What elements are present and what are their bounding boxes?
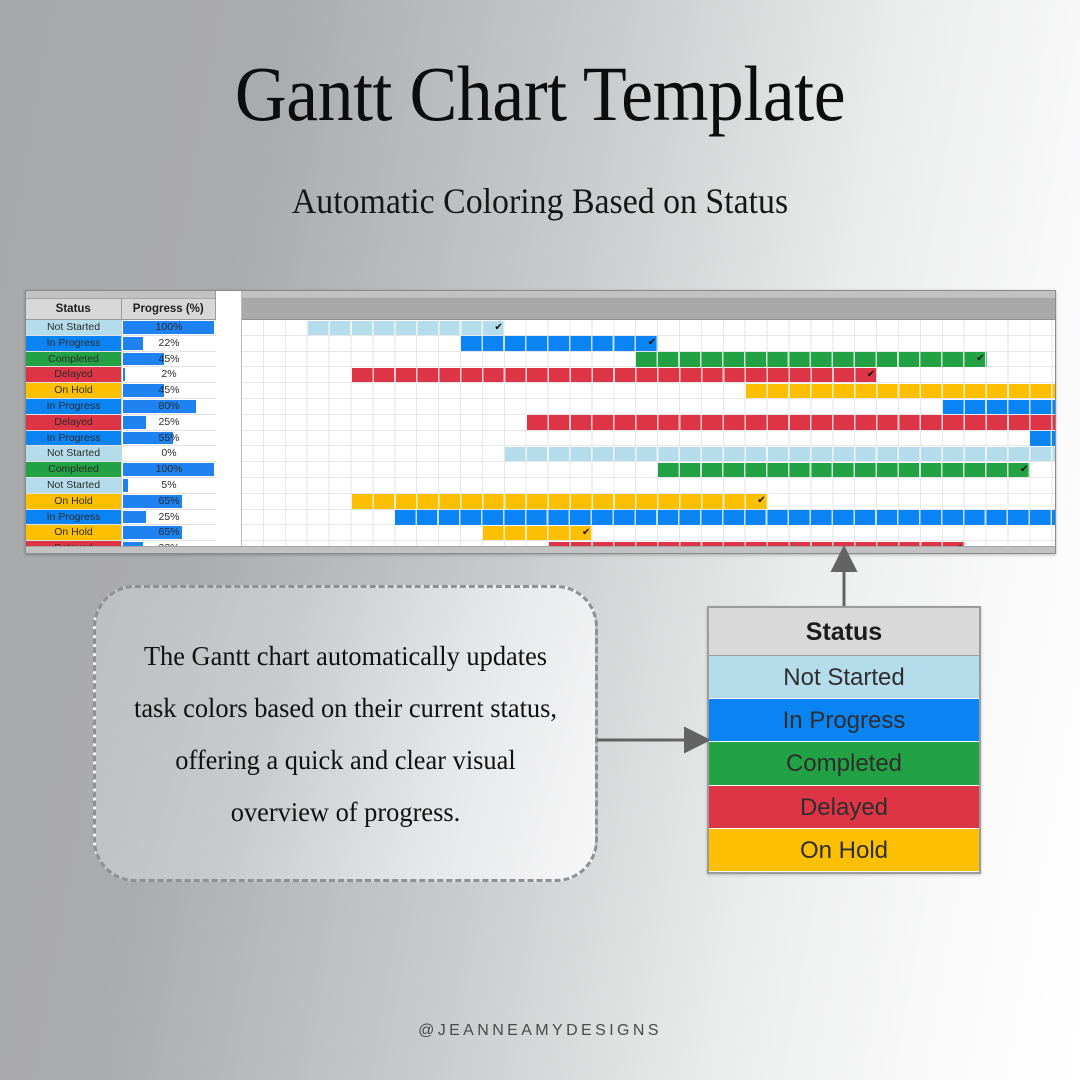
gantt-bar-not-started[interactable]: ✔ [308, 321, 505, 335]
progress-cell[interactable]: 80% [122, 399, 216, 415]
column-header-progress[interactable]: Progress (%) [122, 299, 216, 319]
table-rows-container: Not Started100%In Progress22%Completed45… [26, 320, 215, 554]
gantt-row[interactable]: ✔ [242, 320, 1055, 336]
gantt-bar-on-hold[interactable]: ✔ [483, 526, 593, 540]
legend-item-not-started[interactable]: Not Started [709, 656, 979, 699]
table-row[interactable]: In Progress22% [26, 336, 215, 352]
status-cell[interactable]: Not Started [26, 320, 122, 336]
checkmark-icon: ✔ [582, 526, 590, 540]
table-row[interactable]: Not Started5% [26, 478, 215, 494]
task-table[interactable]: Status Progress (%) Not Started100%In Pr… [26, 291, 216, 553]
gantt-bar-delayed[interactable] [527, 415, 1055, 429]
gantt-bar-on-hold[interactable]: ✔ [352, 494, 768, 508]
gantt-row[interactable] [242, 478, 1055, 494]
checkmark-icon: ✔ [867, 368, 875, 382]
status-cell[interactable]: Not Started [26, 446, 122, 462]
progress-cell[interactable]: 0% [122, 446, 216, 462]
checkmark-icon: ✔ [648, 336, 656, 350]
progress-cell[interactable]: 25% [122, 510, 216, 526]
gantt-spreadsheet-panel[interactable]: Status Progress (%) Not Started100%In Pr… [25, 290, 1056, 554]
status-cell[interactable]: Delayed [26, 367, 122, 383]
page-header: Gantt Chart Template Automatic Coloring … [0, 46, 1080, 224]
gantt-row[interactable] [242, 431, 1055, 447]
table-row[interactable]: Not Started100% [26, 320, 215, 336]
status-cell[interactable]: Completed [26, 352, 122, 368]
progress-label: 25% [122, 415, 216, 431]
gantt-row[interactable]: ✔ [242, 352, 1055, 368]
gantt-bar-completed[interactable]: ✔ [636, 352, 986, 366]
gantt-bar-in-progress[interactable] [1030, 431, 1055, 445]
gantt-bar-in-progress[interactable]: ✔ [943, 400, 1055, 414]
progress-label: 2% [122, 367, 216, 383]
status-legend[interactable]: Status Not StartedIn ProgressCompletedDe… [707, 606, 981, 874]
gantt-row[interactable]: ✔ [242, 383, 1055, 399]
progress-cell[interactable]: 5% [122, 478, 216, 494]
status-cell[interactable]: In Progress [26, 431, 122, 447]
gantt-bar-not-started[interactable]: ✔ [505, 447, 1055, 461]
table-row[interactable]: In Progress55% [26, 431, 215, 447]
status-cell[interactable]: In Progress [26, 510, 122, 526]
progress-cell[interactable]: 25% [122, 415, 216, 431]
status-cell[interactable]: In Progress [26, 336, 122, 352]
progress-cell[interactable]: 55% [122, 431, 216, 447]
table-row[interactable]: Completed100% [26, 462, 215, 478]
gantt-bar-delayed[interactable]: ✔ [352, 368, 878, 382]
page-subtitle: Automatic Coloring Based on Status [32, 178, 1047, 224]
progress-label: 100% [122, 320, 216, 336]
progress-label: 65% [122, 494, 216, 510]
callout-text: The Gantt chart automatically updates ta… [106, 630, 585, 838]
gantt-top-strip [242, 291, 1055, 299]
legend-item-delayed[interactable]: Delayed [709, 786, 979, 829]
gantt-row[interactable]: ✔ [242, 399, 1055, 415]
gantt-timeline-header[interactable] [242, 291, 1055, 320]
progress-label: 45% [122, 352, 216, 368]
gantt-row[interactable]: ✔ [242, 494, 1055, 510]
spacer-column [216, 291, 242, 553]
gantt-row[interactable]: ✔ [242, 336, 1055, 352]
gantt-bar-on-hold[interactable]: ✔ [746, 384, 1055, 398]
gantt-bar-completed[interactable]: ✔ [658, 463, 1030, 477]
table-header-row: Status Progress (%) [26, 299, 215, 320]
legend-rows-container: Not StartedIn ProgressCompletedDelayedOn… [709, 656, 979, 872]
progress-cell[interactable]: 45% [122, 383, 216, 399]
status-cell[interactable]: On Hold [26, 525, 122, 541]
progress-label: 45% [122, 383, 216, 399]
gantt-row[interactable]: ✔ [242, 446, 1055, 462]
gantt-grid[interactable]: ✔✔✔✔✔✔✔✔✔✔✔✔ [242, 291, 1055, 553]
progress-label: 65% [122, 525, 216, 541]
table-row[interactable]: In Progress80% [26, 399, 215, 415]
progress-cell[interactable]: 2% [122, 367, 216, 383]
progress-cell[interactable]: 45% [122, 352, 216, 368]
gantt-row[interactable] [242, 415, 1055, 431]
table-row[interactable]: In Progress25% [26, 510, 215, 526]
gantt-row[interactable]: ✔ [242, 462, 1055, 478]
gantt-bar-in-progress[interactable]: ✔ [395, 510, 1055, 524]
status-cell[interactable]: In Progress [26, 399, 122, 415]
legend-title: Status [709, 608, 979, 656]
progress-cell[interactable]: 100% [122, 462, 216, 478]
table-row[interactable]: Completed45% [26, 352, 215, 368]
description-callout: The Gantt chart automatically updates ta… [93, 585, 598, 882]
status-cell[interactable]: Completed [26, 462, 122, 478]
gantt-row[interactable]: ✔ [242, 525, 1055, 541]
checkmark-icon: ✔ [1020, 463, 1028, 477]
sheet-bottom-scrollbar[interactable] [26, 546, 1055, 553]
gantt-rows-container: ✔✔✔✔✔✔✔✔✔✔✔✔ [242, 320, 1055, 553]
status-cell[interactable]: Not Started [26, 478, 122, 494]
checkmark-icon: ✔ [976, 352, 984, 366]
column-header-status[interactable]: Status [26, 299, 122, 319]
progress-label: 25% [122, 510, 216, 526]
status-cell[interactable]: On Hold [26, 494, 122, 510]
progress-label: 22% [122, 336, 216, 352]
status-cell[interactable]: Delayed [26, 415, 122, 431]
table-row[interactable]: Delayed2% [26, 367, 215, 383]
footer-watermark: @JEANNEAMYDESIGNS [0, 1022, 1080, 1040]
table-row[interactable]: Not Started0% [26, 446, 215, 462]
progress-cell[interactable]: 65% [122, 525, 216, 541]
gantt-bar-in-progress[interactable]: ✔ [461, 336, 658, 350]
sheet-top-strip [26, 291, 215, 299]
legend-item-completed[interactable]: Completed [709, 742, 979, 785]
progress-cell[interactable]: 100% [122, 320, 216, 336]
table-row[interactable]: On Hold45% [26, 383, 215, 399]
table-row[interactable]: On Hold65% [26, 494, 215, 510]
legend-item-in-progress[interactable]: In Progress [709, 699, 979, 742]
progress-label: 5% [122, 478, 216, 494]
progress-cell[interactable]: 65% [122, 494, 216, 510]
legend-item-on-hold[interactable]: On Hold [709, 829, 979, 872]
table-row[interactable]: On Hold65% [26, 525, 215, 541]
progress-label: 100% [122, 462, 216, 478]
progress-label: 0% [122, 446, 216, 462]
gantt-row[interactable]: ✔ [242, 510, 1055, 526]
page-title: Gantt Chart Template [43, 46, 1037, 142]
progress-label: 55% [122, 431, 216, 447]
status-cell[interactable]: On Hold [26, 383, 122, 399]
checkmark-icon: ✔ [494, 321, 502, 335]
progress-label: 80% [122, 399, 216, 415]
checkmark-icon: ✔ [757, 494, 765, 508]
gantt-row[interactable]: ✔ [242, 367, 1055, 383]
table-row[interactable]: Delayed25% [26, 415, 215, 431]
progress-cell[interactable]: 22% [122, 336, 216, 352]
